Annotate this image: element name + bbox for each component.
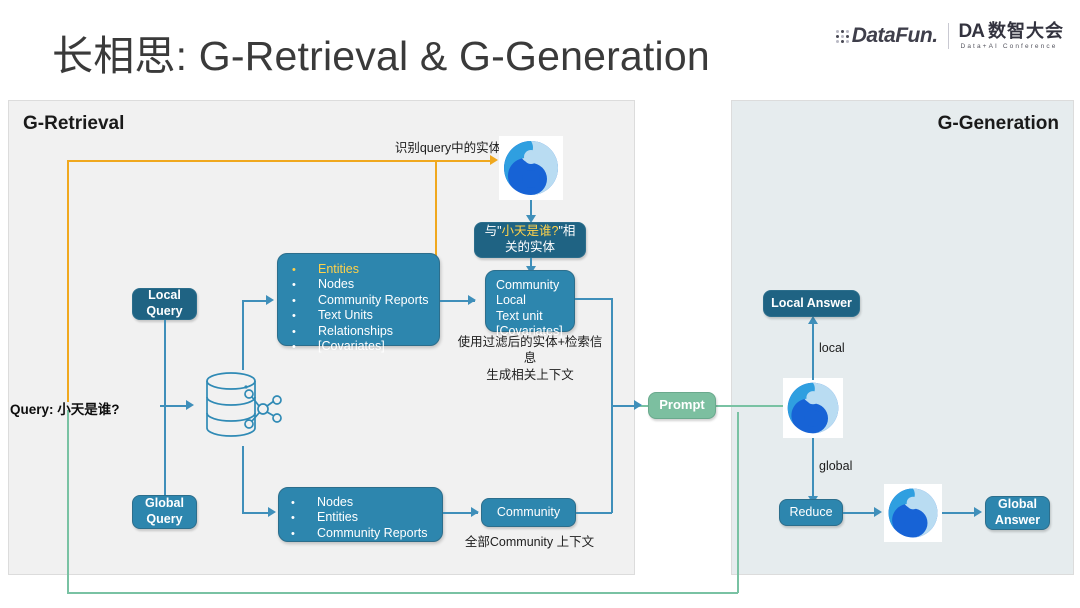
local-context-item-label: Local: [496, 293, 526, 308]
global-query-line2: Query: [146, 512, 182, 528]
orange-wire-vertical-right: [435, 160, 437, 265]
local-query-line1: Local: [148, 288, 181, 304]
green-wire-bottom: [67, 592, 738, 594]
wire-community-up-to-prompt: [611, 405, 613, 513]
global-retrieval-item-label: Community Reports: [317, 526, 427, 541]
community-box[interactable]: Community: [481, 498, 576, 527]
arrow-to-prompt: [634, 400, 642, 410]
da-conference-logo: DA 数智大会 Data+AI Conference: [959, 22, 1064, 51]
local-context-item: Text unit: [496, 309, 566, 324]
logo-divider: [948, 23, 949, 49]
bullet-icon: •: [292, 264, 318, 277]
page-title: 长相思: G-Retrieval & G-Generation: [52, 22, 710, 82]
local-context-items: CommunityLocalText unit[Covariates]: [496, 278, 566, 339]
local-query-node[interactable]: Local Query: [132, 288, 197, 320]
wire-db-down: [242, 446, 244, 513]
local-retrieval-item-label: [Covariates]: [318, 339, 385, 354]
local-context-item-label: Community: [496, 278, 559, 293]
local-retrieval-item: •Text Units: [292, 308, 429, 323]
wire-llm2-to-global-answer: [942, 512, 978, 514]
green-wire-prompt-out: [712, 405, 792, 407]
llm-swirl-icon-reduce: [884, 484, 942, 542]
local-branch-label: local: [819, 341, 845, 355]
arrow-global-list-to-community: [471, 507, 479, 517]
wire-llm-to-reduce: [812, 438, 814, 500]
local-retrieval-item: •Nodes: [292, 277, 429, 292]
bullet-icon: •: [291, 528, 317, 541]
wire-context-down-to-prompt: [611, 298, 613, 405]
entity-filter-text: 与"小天是谁?"相关的实体: [481, 224, 579, 255]
entity-filter-box[interactable]: 与"小天是谁?"相关的实体: [474, 222, 586, 258]
global-query-node[interactable]: Global Query: [132, 495, 197, 529]
global-branch-label: global: [819, 459, 852, 473]
global-retrieval-list[interactable]: •Nodes•Entities•Community Reports: [278, 487, 443, 542]
bullet-icon: •: [292, 341, 318, 354]
bullet-icon: •: [292, 326, 318, 339]
local-retrieval-item-label: Entities: [318, 262, 359, 277]
arrow-llm2-to-global-answer: [974, 507, 982, 517]
conference-logo: DataFun. DA 数智大会 Data+AI Conference: [836, 14, 1064, 58]
global-answer-line1: Global: [998, 497, 1037, 513]
wire-local-to-global-query: [164, 320, 166, 504]
bullet-icon: •: [292, 295, 318, 308]
global-retrieval-item: •Nodes: [291, 495, 434, 510]
context-caption-line2: 生成相关上下文: [455, 367, 605, 383]
local-query-line2: Query: [146, 304, 182, 320]
local-retrieval-items: •Entities•Nodes•Community Reports•Text U…: [292, 262, 429, 354]
orange-arrow-to-llm: [490, 155, 498, 165]
datafun-wordmark: DataFun.: [852, 24, 938, 48]
local-retrieval-item: •[Covariates]: [292, 339, 429, 354]
entity-filter-highlight: 小天是谁?: [502, 224, 559, 238]
bullet-icon: •: [292, 310, 318, 323]
da-subtitle: Data+AI Conference: [961, 44, 1058, 51]
global-retrieval-item-label: Nodes: [317, 495, 353, 510]
local-retrieval-item-label: Nodes: [318, 277, 354, 292]
llm-swirl-icon-extract: [499, 136, 563, 200]
arrow-local-list-to-context: [468, 295, 476, 305]
arrow-query-to-db: [186, 400, 194, 410]
global-answer-line2: Answer: [995, 513, 1040, 529]
arrow-db-to-global-list: [268, 507, 276, 517]
orange-wire-to-llm: [437, 160, 492, 162]
context-caption: 使用过滤后的实体+检索信息 生成相关上下文: [455, 334, 605, 383]
local-retrieval-item: •Community Reports: [292, 293, 429, 308]
wire-db-up: [242, 300, 244, 370]
orange-wire-top: [67, 160, 437, 162]
llm-swirl-icon-generate: [783, 378, 843, 438]
arrow-to-local-answer: [808, 316, 818, 324]
datafun-logo: DataFun.: [836, 24, 938, 48]
local-context-item: Local: [496, 293, 566, 308]
bullet-icon: •: [291, 497, 317, 510]
green-wire-vertical-left: [67, 410, 69, 593]
local-retrieval-item-label: Community Reports: [318, 293, 428, 308]
arrow-reduce-to-llm2: [874, 507, 882, 517]
community-caption: 全部Community 上下文: [462, 534, 597, 550]
orange-wire-vertical-left: [67, 160, 69, 402]
slide-canvas: 长相思: G-Retrieval & G-Generation DataFun.…: [0, 0, 1080, 608]
datafun-dots-icon: [836, 30, 849, 43]
wire-context-out: [575, 298, 612, 300]
local-retrieval-item-label: Relationships: [318, 324, 393, 339]
local-retrieval-item: •Entities: [292, 262, 429, 277]
da-badge: DA: [959, 22, 984, 41]
local-context-item: Community: [496, 278, 566, 293]
wire-llm-to-local-answer: [812, 322, 814, 380]
local-retrieval-item: •Relationships: [292, 324, 429, 339]
global-retrieval-item: •Entities: [291, 510, 434, 525]
local-context-item-label: Text unit: [496, 309, 543, 324]
local-answer-node[interactable]: Local Answer: [763, 290, 860, 317]
arrow-db-to-local-list: [266, 295, 274, 305]
wire-community-out: [576, 512, 612, 514]
prompt-node[interactable]: Prompt: [648, 392, 716, 419]
global-answer-node[interactable]: Global Answer: [985, 496, 1050, 530]
bullet-icon: •: [292, 279, 318, 292]
da-chinese-name: 数智大会: [988, 22, 1064, 40]
query-label: Query: 小天是谁?: [10, 398, 120, 418]
extract-entity-caption: 识别query中的实体: [388, 140, 508, 156]
green-wire-vertical-right: [737, 412, 739, 593]
global-retrieval-items: •Nodes•Entities•Community Reports: [291, 495, 434, 541]
local-retrieval-item-label: Text Units: [318, 308, 373, 323]
reduce-node[interactable]: Reduce: [779, 499, 843, 526]
global-retrieval-item-label: Entities: [317, 510, 358, 525]
graph-database-icon: [200, 368, 285, 446]
local-context-box[interactable]: CommunityLocalText unit[Covariates]: [485, 270, 575, 332]
local-retrieval-list[interactable]: •Entities•Nodes•Community Reports•Text U…: [277, 253, 440, 346]
global-retrieval-item: •Community Reports: [291, 526, 434, 541]
g-generation-title: G-Generation: [938, 113, 1059, 135]
bullet-icon: •: [291, 512, 317, 525]
g-retrieval-title: G-Retrieval: [23, 113, 124, 135]
context-caption-line1: 使用过滤后的实体+检索信息: [455, 334, 605, 367]
global-query-line1: Global: [145, 496, 184, 512]
